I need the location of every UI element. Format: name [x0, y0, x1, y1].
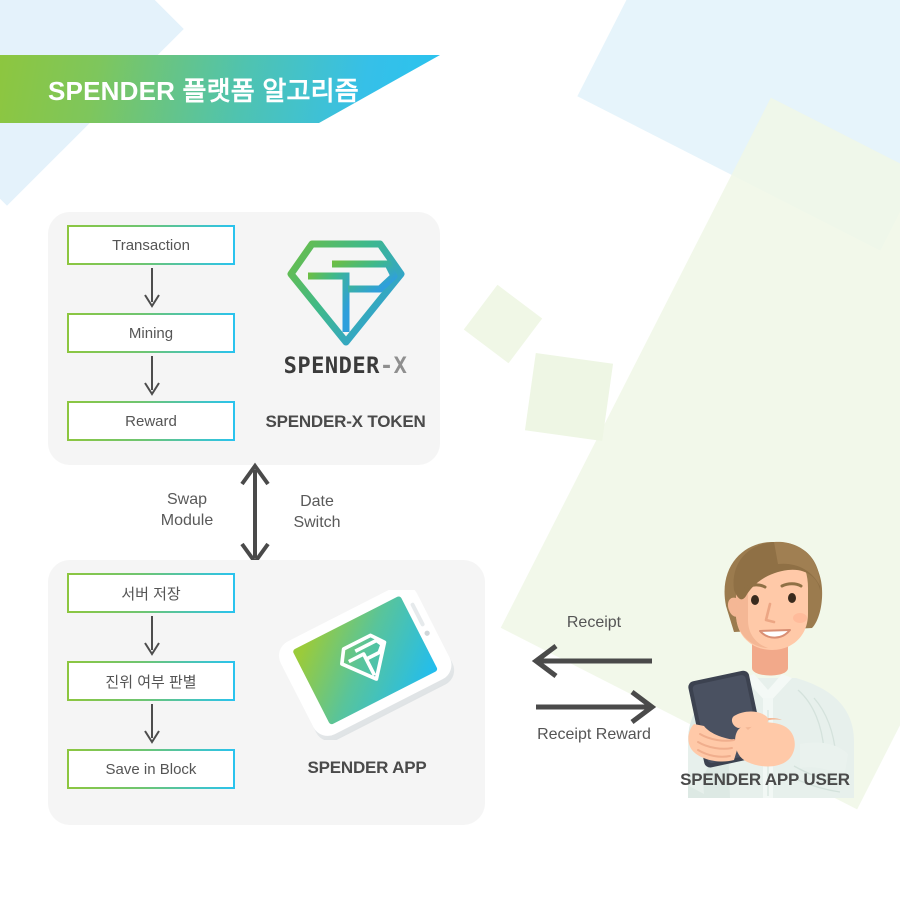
- header-banner: SPENDER 플랫폼 알고리즘: [0, 55, 440, 123]
- flow-step-server-save[interactable]: 서버 저장: [67, 573, 235, 613]
- logo-wordmark: SPENDER-X: [258, 354, 433, 379]
- person-with-phone-illustration: [648, 528, 880, 798]
- swap-module-line2: Module: [161, 512, 213, 529]
- flow-step-label: Save in Block: [106, 761, 197, 778]
- banner-title-en: SPENDER: [48, 76, 175, 106]
- arrow-down-icon: [67, 701, 237, 749]
- flow-step-label: Transaction: [112, 237, 190, 254]
- date-switch-line2: Switch: [293, 514, 340, 531]
- date-switch-line1: Date: [300, 493, 334, 510]
- arrow-down-icon: [67, 353, 237, 401]
- page-title: SPENDER 플랫폼 알고리즘: [0, 71, 359, 108]
- decorative-square-small-b: [525, 353, 613, 441]
- swap-exchange-group: Swap Module Date Switch: [140, 462, 400, 567]
- flow-step-authenticity-check[interactable]: 진위 여부 판별: [67, 661, 235, 701]
- flow-step-label: Reward: [125, 413, 177, 430]
- swap-module-line1: Swap: [167, 491, 207, 508]
- decorative-square-small-a: [464, 285, 542, 363]
- flow-step-save-in-block[interactable]: Save in Block: [67, 749, 235, 789]
- app-artwork: [262, 590, 472, 740]
- token-panel: Transaction Mining Reward: [48, 212, 440, 465]
- flow-step-label: 진위 여부 판별: [105, 671, 196, 692]
- token-artwork: SPENDER-X: [258, 234, 433, 379]
- token-flow-column: Transaction Mining Reward: [67, 225, 237, 441]
- arrow-down-icon: [67, 613, 237, 661]
- flow-step-label: Mining: [129, 325, 173, 342]
- decorative-square-blue: [577, 0, 900, 251]
- flow-step-transaction[interactable]: Transaction: [67, 225, 235, 265]
- receipt-arrow-pair: [520, 644, 668, 733]
- user-caption: SPENDER APP USER: [620, 770, 900, 790]
- date-switch-label: Date Switch: [272, 492, 362, 534]
- logo-wordmark-main: SPENDER: [284, 354, 380, 379]
- swap-module-label: Swap Module: [142, 490, 232, 532]
- logo-wordmark-suffix: -X: [380, 354, 408, 379]
- arrow-down-icon: [67, 265, 237, 313]
- token-panel-caption: SPENDER-X TOKEN: [258, 412, 433, 432]
- arrow-right-icon: [536, 692, 652, 722]
- arrow-left-icon: [536, 646, 652, 676]
- flow-step-reward[interactable]: Reward: [67, 401, 235, 441]
- smartphone-icon: [262, 590, 472, 740]
- flow-step-label: 서버 저장: [121, 583, 180, 604]
- banner-title-ko: 플랫폼 알고리즘: [183, 76, 359, 106]
- app-panel: 서버 저장 진위 여부 판별 Save in Block: [48, 560, 485, 825]
- diagram-canvas: SPENDER 플랫폼 알고리즘 Transaction Mining: [0, 0, 900, 900]
- app-panel-caption: SPENDER APP: [262, 758, 472, 778]
- spender-diamond-logo-icon: [258, 234, 433, 352]
- arrow-up-down-icon: [238, 462, 272, 571]
- flow-step-mining[interactable]: Mining: [67, 313, 235, 353]
- app-flow-column: 서버 저장 진위 여부 판별 Save in Block: [67, 573, 237, 789]
